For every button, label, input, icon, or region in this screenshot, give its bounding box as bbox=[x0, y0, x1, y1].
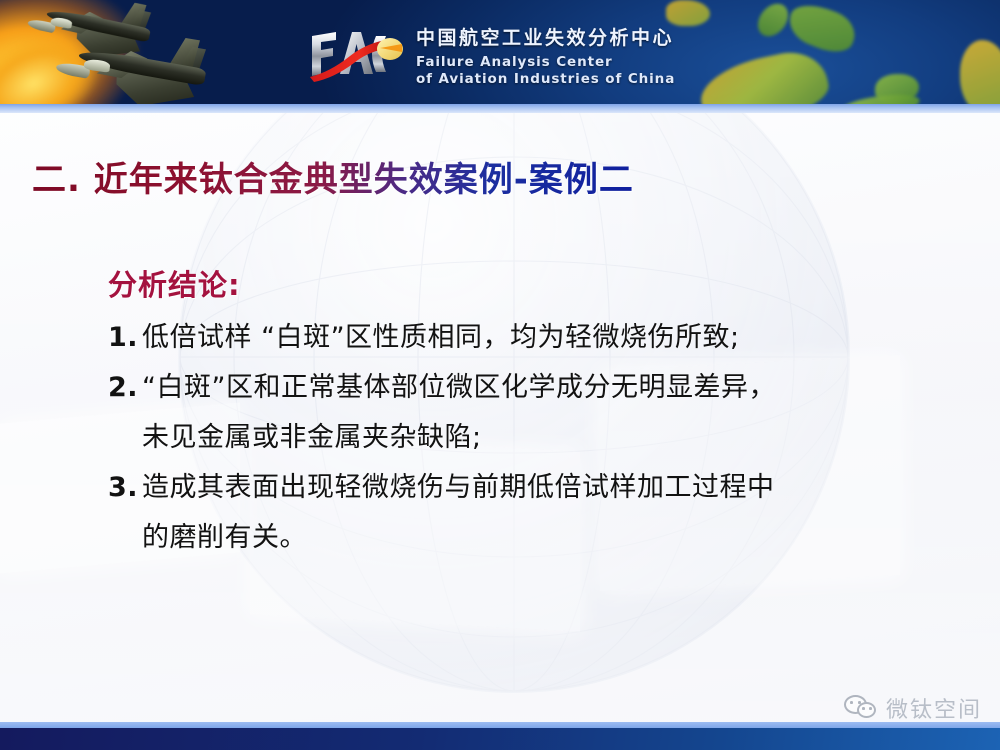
list-item-text-continued: 的磨削有关。 bbox=[108, 513, 968, 563]
list-item-text: 低倍试样 “白斑”区性质相同，均为轻微烧伤所致; bbox=[142, 313, 968, 363]
presentation-slide: 中国航空工业失效分析中心 Failure Analysis Center of … bbox=[0, 0, 1000, 750]
list-item-text: “白斑”区和正常基体部位微区化学成分无明显差异， bbox=[142, 363, 968, 413]
wechat-icon bbox=[844, 695, 878, 721]
landmass-shape bbox=[695, 45, 833, 112]
list-item-number: 3. bbox=[108, 463, 142, 513]
list-item: 3. 造成其表面出现轻微烧伤与前期低倍试样加工过程中 bbox=[108, 463, 968, 513]
landmass-shape bbox=[783, 0, 861, 59]
logo-title-en-line2: of Aviation Industries of China bbox=[416, 71, 675, 87]
watermark: 微钛空间 bbox=[844, 692, 982, 724]
logo-title-en-line1: Failure Analysis Center bbox=[416, 54, 675, 70]
page-title: 二. 近年来钛合金典型失效案例-案例二 bbox=[32, 152, 634, 201]
list-item-number: 1. bbox=[108, 313, 142, 363]
header-banner: 中国航空工业失效分析中心 Failure Analysis Center of … bbox=[0, 0, 1000, 112]
watermark-label: 微钛空间 bbox=[886, 692, 982, 724]
list-item: 1. 低倍试样 “白斑”区性质相同，均为轻微烧伤所致; bbox=[108, 313, 968, 363]
fac-emblem-icon bbox=[306, 22, 406, 88]
banner-divider bbox=[0, 104, 1000, 113]
conclusions-block: 分析结论: 1. 低倍试样 “白斑”区性质相同，均为轻微烧伤所致; 2. “白斑… bbox=[108, 262, 968, 563]
landmass-shape bbox=[752, 0, 795, 42]
analysis-heading: 分析结论: bbox=[108, 262, 968, 304]
list-item-text: 造成其表面出现轻微烧伤与前期低倍试样加工过程中 bbox=[142, 463, 968, 513]
list-item-number: 2. bbox=[108, 363, 142, 413]
organization-logo: 中国航空工业失效分析中心 Failure Analysis Center of … bbox=[306, 14, 686, 96]
list-item: 2. “白斑”区和正常基体部位微区化学成分无明显差异， bbox=[108, 363, 968, 413]
landmass-shape bbox=[960, 40, 1000, 112]
footer-bar bbox=[0, 728, 1000, 750]
logo-title-cn: 中国航空工业失效分析中心 bbox=[416, 23, 675, 50]
list-item-text-continued: 未见金属或非金属夹杂缺陷; bbox=[108, 413, 968, 463]
